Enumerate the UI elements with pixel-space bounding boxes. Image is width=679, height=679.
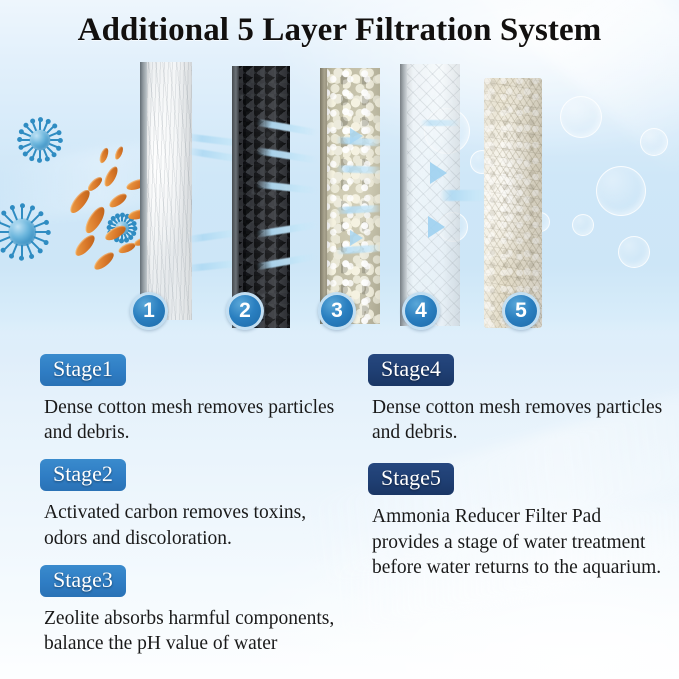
panel-shading <box>320 68 380 324</box>
stage-block-4: Stage4 Dense cotton mesh removes particl… <box>368 354 668 445</box>
stage-description-2: Activated carbon removes toxins, odors a… <box>44 500 350 551</box>
virus-spike <box>31 121 37 131</box>
virus-spike <box>43 149 49 159</box>
virus-spike <box>21 131 31 137</box>
filter-layer-5 <box>484 78 542 328</box>
stage-block-1: Stage1 Dense cotton mesh removes particl… <box>40 354 350 445</box>
stage-description-1: Dense cotton mesh removes particles and … <box>44 395 350 446</box>
stage-badge-1: Stage1 <box>40 354 126 386</box>
virus-spike <box>128 227 135 229</box>
bubble-icon <box>596 166 646 216</box>
virus-spike <box>30 240 41 251</box>
flow-arrow-icon <box>428 216 445 238</box>
panel-shading <box>140 62 192 320</box>
virus-spike <box>50 139 61 141</box>
virus-spike <box>3 240 14 251</box>
infographic-root: Additional 5 Layer Filtration System <box>0 0 679 679</box>
virus-icon <box>0 210 44 254</box>
virus-spike <box>121 234 123 241</box>
virus-spike <box>0 231 9 233</box>
bubble-icon <box>560 96 602 138</box>
virus-spike <box>20 139 31 141</box>
layer-number-5: 5 <box>502 292 540 330</box>
virus-spike <box>21 206 23 220</box>
stage-column-right: Stage4 Dense cotton mesh removes particl… <box>368 354 668 594</box>
panel-shading <box>484 78 542 328</box>
stage-badge-3: Stage3 <box>40 565 126 597</box>
stage-block-2: Stage2 Activated carbon removes toxins, … <box>40 459 350 550</box>
virus-spike <box>39 120 41 131</box>
virus-spike <box>21 245 23 259</box>
flow-arrow-icon <box>350 128 363 144</box>
virus-spike <box>26 207 33 220</box>
flow-arrow-icon <box>350 230 363 246</box>
virus-spike <box>30 213 41 224</box>
virus-icon <box>23 123 57 157</box>
stage-badge-2: Stage2 <box>40 459 126 491</box>
bubble-icon <box>618 236 650 268</box>
layer-number-3: 3 <box>318 292 356 330</box>
virus-spike <box>3 213 14 224</box>
stage-description-3: Zeolite absorbs harmful components, bala… <box>44 606 350 657</box>
virus-spike <box>39 150 41 161</box>
stage-badge-4: Stage4 <box>368 354 454 386</box>
virus-spike <box>46 146 55 155</box>
water-stream <box>420 120 460 126</box>
stage-description-5: Ammonia Reducer Filter Pad provides a st… <box>372 504 668 580</box>
layer-number-2: 2 <box>226 292 264 330</box>
filter-layer-1 <box>140 62 192 320</box>
layer-number-4: 4 <box>402 292 440 330</box>
bubble-icon <box>572 214 594 236</box>
virus-spike <box>35 231 49 233</box>
water-stream <box>440 190 488 201</box>
flow-arrow-icon <box>430 162 447 184</box>
filter-layer-2 <box>232 66 290 328</box>
stage-block-3: Stage3 Zeolite absorbs harmful component… <box>40 565 350 656</box>
virus-spike <box>11 207 18 220</box>
panel-shading <box>232 66 290 328</box>
stage-column-left: Stage1 Dense cotton mesh removes particl… <box>40 354 350 670</box>
stage-badge-5: Stage5 <box>368 463 454 495</box>
bubble-icon <box>640 128 668 156</box>
stage-block-5: Stage5 Ammonia Reducer Filter Pad provid… <box>368 463 668 580</box>
page-title: Additional 5 Layer Filtration System <box>0 12 679 49</box>
layer-number-1: 1 <box>130 292 168 330</box>
filter-layer-3 <box>320 68 380 324</box>
stage-description-4: Dense cotton mesh removes particles and … <box>372 395 668 446</box>
